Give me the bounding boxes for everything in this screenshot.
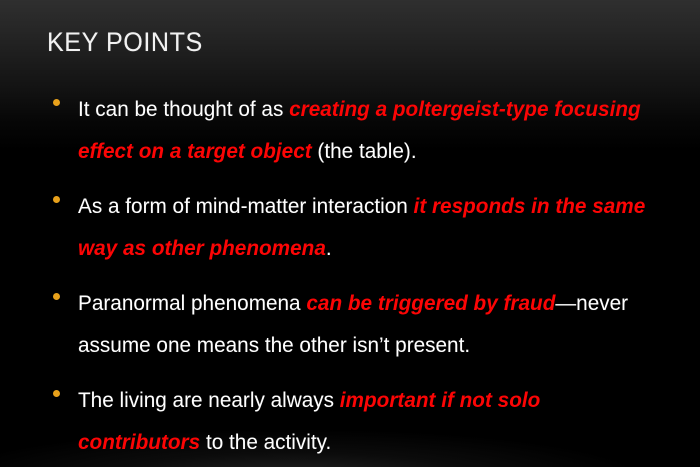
presentation-slide: KEY POINTS It can be thought of as creat… xyxy=(0,0,700,467)
bullet-dot-icon xyxy=(53,390,60,397)
plain-text: As a form of mind-matter interaction xyxy=(78,194,414,218)
plain-text: . xyxy=(326,236,332,260)
bullet-text: The living are nearly always important i… xyxy=(78,379,678,463)
plain-text: It can be thought of as xyxy=(78,97,289,121)
plain-text: (the table). xyxy=(312,139,417,163)
list-item: It can be thought of as creating a polte… xyxy=(0,88,700,172)
plain-text: Paranormal phenomena xyxy=(78,291,306,315)
slide-title: KEY POINTS xyxy=(47,26,203,58)
plain-text: to the activity. xyxy=(200,430,331,454)
list-item: As a form of mind-matter interaction it … xyxy=(0,185,700,269)
bullet-list: It can be thought of as creating a polte… xyxy=(0,88,700,467)
bullet-text: Paranormal phenomena can be triggered by… xyxy=(78,282,678,366)
bullet-text: As a form of mind-matter interaction it … xyxy=(78,185,678,269)
bullet-dot-icon xyxy=(53,293,60,300)
list-item: Paranormal phenomena can be triggered by… xyxy=(0,282,700,366)
bullet-dot-icon xyxy=(53,196,60,203)
bullet-dot-icon xyxy=(53,99,60,106)
bullet-text: It can be thought of as creating a polte… xyxy=(78,88,678,172)
plain-text: The living are nearly always xyxy=(78,388,340,412)
slide-content: KEY POINTS It can be thought of as creat… xyxy=(0,0,700,467)
emphasis-text: can be triggered by fraud xyxy=(306,291,555,315)
list-item: The living are nearly always important i… xyxy=(0,379,700,463)
